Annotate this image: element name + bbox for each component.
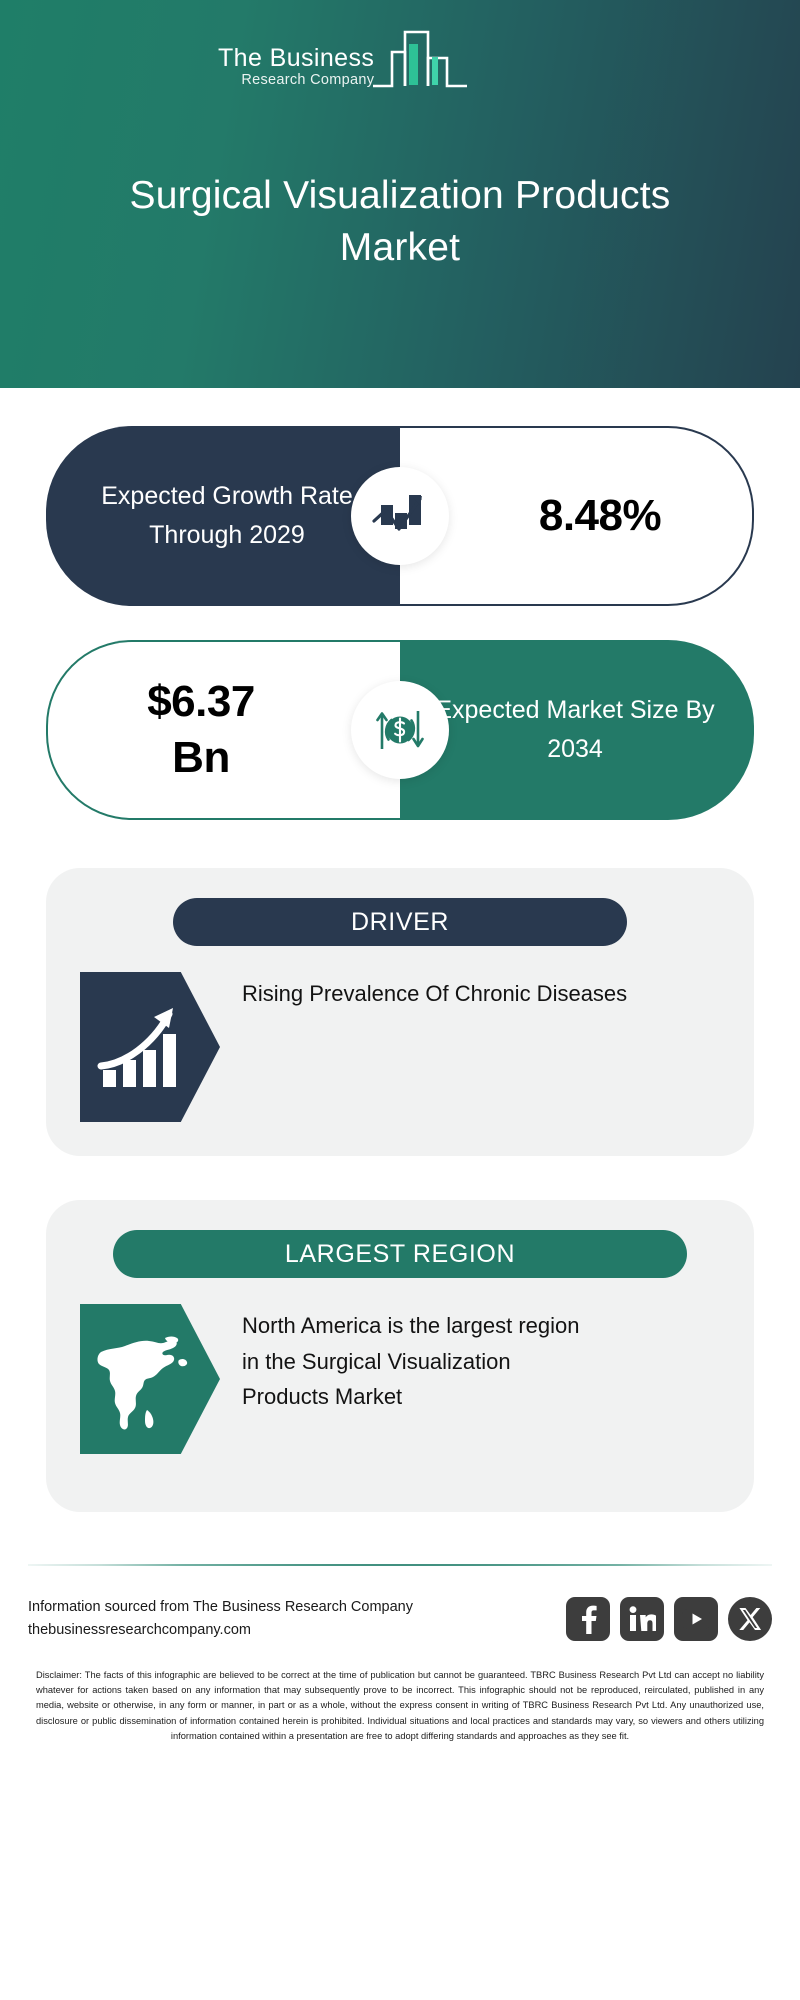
social-links: ™	[566, 1597, 772, 1641]
largest-region-icon-shape	[80, 1304, 220, 1454]
largest-region-pill: LARGEST REGION	[113, 1230, 687, 1278]
source-line-2: thebusinessresearchcompany.com	[28, 1619, 413, 1642]
growth-rate-label: Expected Growth Rate Through 2029	[46, 477, 400, 555]
driver-panel: DRIVER Rising Prevalence Of Chronic Dise…	[46, 868, 754, 1156]
largest-region-body-text: North America is the largest region in t…	[242, 1304, 592, 1415]
footer-row: Information sourced from The Business Re…	[28, 1596, 772, 1642]
disclaimer-text: Disclaimer: The facts of this infographi…	[36, 1668, 764, 1743]
market-size-value: $6.37 Bn	[48, 674, 400, 787]
company-logo: The Business Research Company	[218, 24, 468, 91]
growth-rate-label-panel: Expected Growth Rate Through 2029	[46, 426, 400, 606]
growth-rate-badge	[351, 467, 449, 565]
dollar-exchange-icon	[370, 701, 430, 759]
logo-wordmark: The Business Research Company	[218, 45, 374, 91]
driver-pill: DRIVER	[173, 898, 627, 946]
market-size-value-line-1: $6.37	[147, 677, 255, 726]
growth-rate-value-panel: 8.48%	[400, 426, 754, 606]
market-size-label: Expected Market Size By 2034	[400, 691, 754, 769]
rising-bar-chart-arrow-icon	[97, 1004, 189, 1090]
header-banner: The Business Research Company Surgical V…	[0, 0, 800, 388]
growth-rate-value: 8.48%	[400, 491, 752, 541]
largest-region-pill-label: LARGEST REGION	[285, 1240, 515, 1269]
logo-line-1: The Business	[218, 45, 374, 71]
market-size-value-line-2: Bn	[172, 733, 230, 782]
source-text: Information sourced from The Business Re…	[28, 1596, 413, 1642]
driver-icon-shape	[80, 972, 220, 1122]
logo-line-2: Research Company	[241, 72, 374, 89]
market-size-badge	[351, 681, 449, 779]
linkedin-icon[interactable]: ™	[620, 1597, 664, 1641]
facebook-icon[interactable]	[566, 1597, 610, 1641]
market-size-label-panel: Expected Market Size By 2034	[400, 640, 754, 820]
stat-card-market-size: $6.37 Bn Expected Market Size By 2034	[0, 606, 800, 820]
market-size-value-panel: $6.37 Bn	[46, 640, 400, 820]
source-line-1: Information sourced from The Business Re…	[28, 1596, 413, 1619]
stat-card-growth-rate: Expected Growth Rate Through 2029 8.48%	[0, 388, 800, 606]
largest-region-panel: LARGEST REGION North America is the larg…	[46, 1200, 754, 1512]
growth-bar-arrow-icon	[371, 489, 429, 543]
driver-pill-label: DRIVER	[351, 908, 449, 937]
youtube-icon[interactable]	[674, 1597, 718, 1641]
x-twitter-icon[interactable]	[728, 1597, 772, 1641]
north-america-map-icon	[95, 1324, 191, 1434]
driver-body-text: Rising Prevalence Of Chronic Diseases	[242, 972, 627, 1012]
bar-chart-logo-mark	[372, 24, 468, 90]
page-title: Surgical Visualization Products Market	[0, 170, 800, 274]
svg-text:™: ™	[652, 1628, 656, 1633]
